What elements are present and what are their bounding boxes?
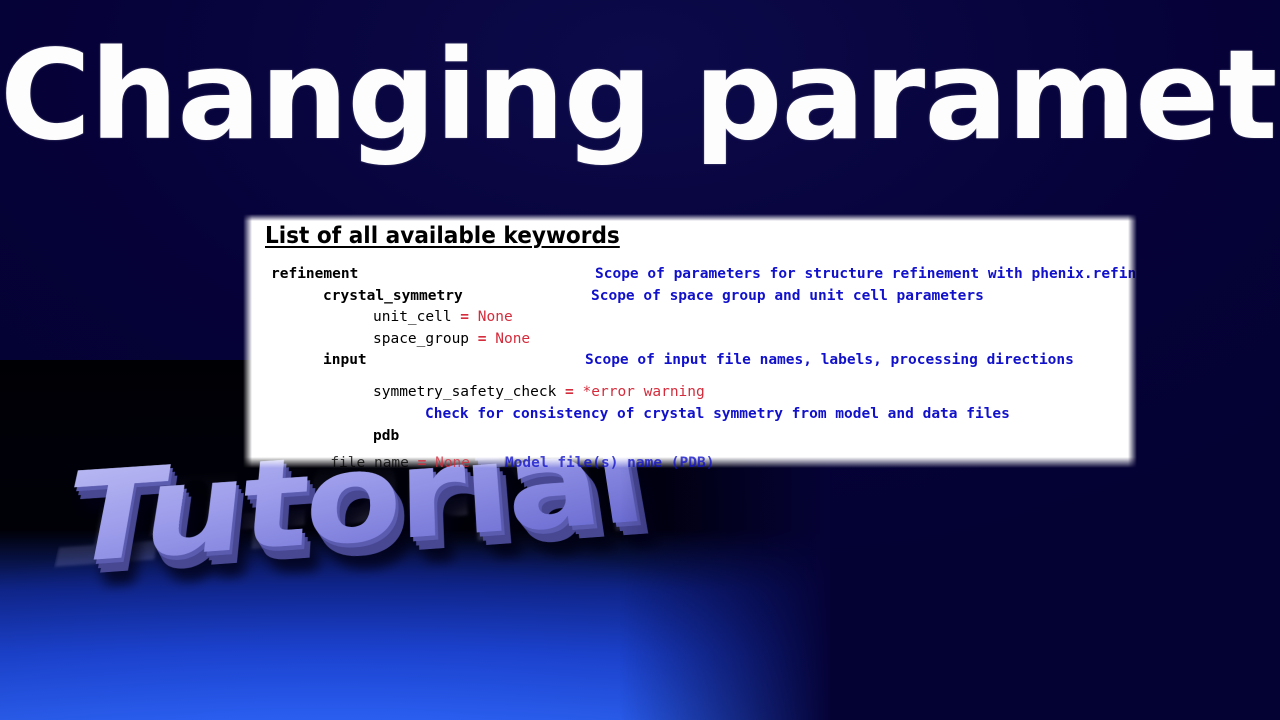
keyword-name: pdb	[373, 428, 399, 444]
slide-canvas: Changing parameters Tutorial Tutorial Li…	[0, 0, 1280, 720]
keyword-row: Check for consistency of crystal symmetr…	[243, 406, 1137, 428]
keyword-description: Scope of input file names, labels, proce…	[585, 352, 1074, 368]
keyword-name-group: unit_cell = None	[373, 309, 513, 325]
keyword-name: refinement	[271, 266, 358, 282]
keyword-name: input	[323, 352, 367, 368]
panel-heading: List of all available keywords	[265, 223, 620, 249]
keyword-name: space_group	[373, 331, 469, 347]
keyword-row: space_group = None	[243, 331, 1137, 353]
keyword-list-panel: List of all available keywords refinemen…	[243, 214, 1137, 468]
keyword-row: pdb	[243, 428, 1137, 450]
keyword-row: symmetry_safety_check = *error warning	[243, 384, 1137, 406]
keyword-name-group: refinement	[271, 266, 358, 282]
keyword-name: symmetry_safety_check	[373, 384, 556, 400]
keyword-equals: =	[556, 384, 582, 400]
keyword-name: crystal_symmetry	[323, 288, 463, 304]
keyword-value: None	[495, 331, 530, 347]
keyword-equals: =	[469, 331, 495, 347]
keyword-description: Scope of space group and unit cell param…	[591, 288, 984, 304]
keyword-row: crystal_symmetryScope of space group and…	[243, 288, 1137, 310]
keyword-value: None	[478, 309, 513, 325]
keyword-value: *error warning	[583, 384, 705, 400]
keyword-row: refinementScope of parameters for struct…	[243, 266, 1137, 288]
keyword-name-group: pdb	[373, 428, 399, 444]
keyword-name: unit_cell	[373, 309, 452, 325]
keyword-description: Scope of parameters for structure refine…	[595, 266, 1137, 282]
keyword-row: unit_cell = None	[243, 309, 1137, 331]
keyword-name-group: space_group = None	[373, 331, 530, 347]
keyword-equals: =	[452, 309, 478, 325]
keyword-rows: refinementScope of parameters for struct…	[243, 266, 1137, 449]
page-title: Changing parameters	[0, 28, 1280, 164]
keyword-name-group: input	[323, 352, 367, 368]
keyword-name-group: crystal_symmetry	[323, 288, 463, 304]
keyword-row: inputScope of input file names, labels, …	[243, 352, 1137, 384]
keyword-description: Check for consistency of crystal symmetr…	[425, 406, 1010, 422]
keyword-name-group: symmetry_safety_check = *error warning	[373, 384, 705, 400]
